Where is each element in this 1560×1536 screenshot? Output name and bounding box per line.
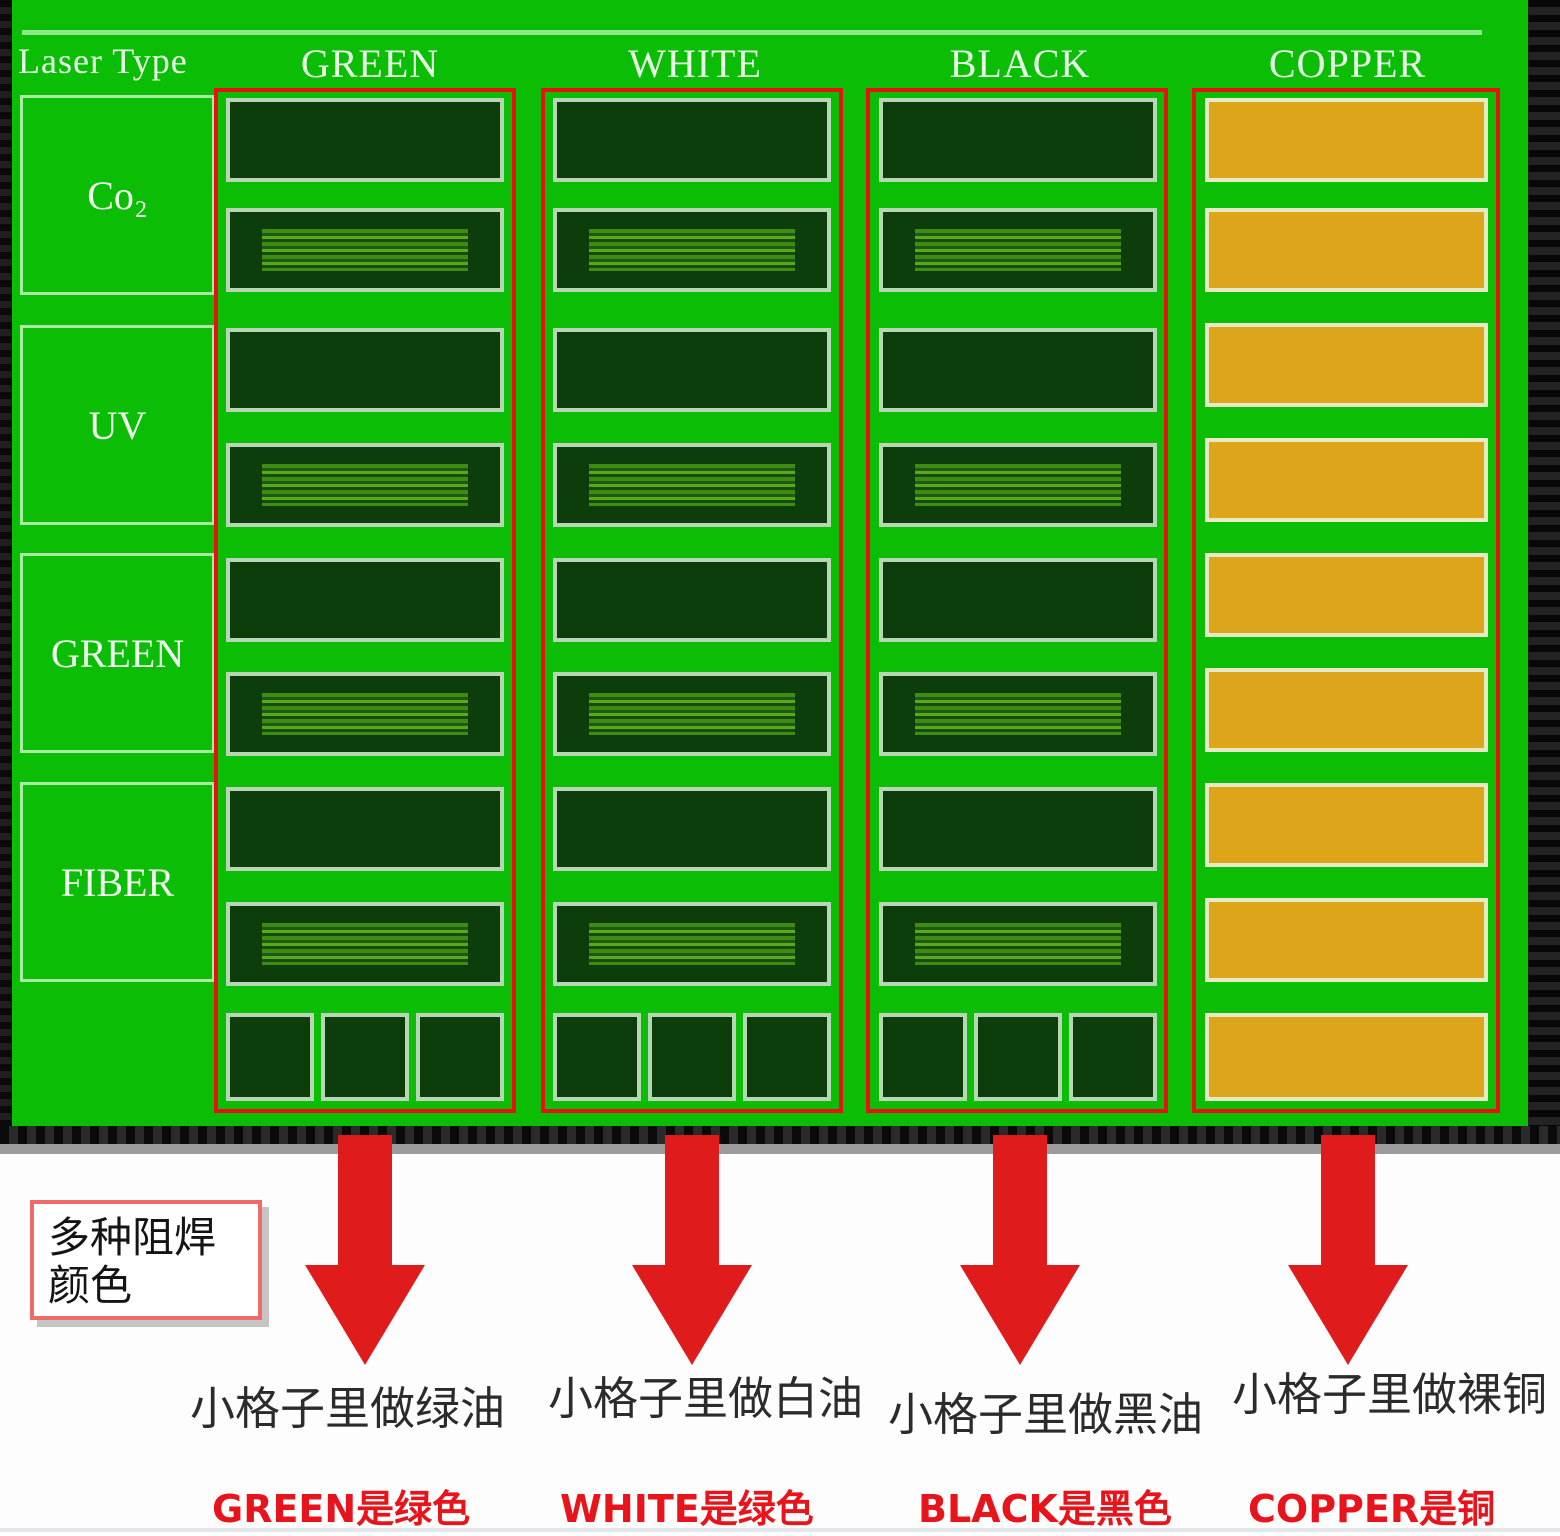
column-header-copper: COPPER: [1195, 40, 1500, 87]
pad-white-small-square-2[interactable]: [648, 1013, 736, 1101]
pad-white-fiber-striped[interactable]: [553, 902, 831, 986]
pad-black-green-solid[interactable]: [879, 558, 1157, 642]
stripe-pattern: [589, 693, 794, 736]
down-arrow-white: [632, 1135, 752, 1365]
arrow-head: [632, 1265, 752, 1365]
stripe-pattern: [915, 464, 1120, 507]
pad-black-uv-solid[interactable]: [879, 328, 1157, 412]
pcb-solder-mask-color-chart: Laser Type GREEN WHITE BLACK COPPER Co₂ …: [0, 0, 1560, 1536]
column-header-black: BLACK: [870, 40, 1170, 87]
down-arrow-copper: [1288, 1135, 1408, 1365]
caption-red-green: GREEN是绿色: [212, 1478, 470, 1533]
down-arrow-black: [960, 1135, 1080, 1365]
stripe-pattern: [262, 464, 467, 507]
board-edge-left: [0, 0, 12, 1152]
stripe-pattern: [915, 229, 1120, 272]
pad-black-green-striped[interactable]: [879, 672, 1157, 756]
pad-copper-fiber-1[interactable]: [1205, 783, 1488, 867]
pad-black-small-square-3[interactable]: [1069, 1013, 1157, 1101]
row-label-green: GREEN: [20, 553, 215, 753]
pad-black-small-square-2[interactable]: [974, 1013, 1062, 1101]
arrow-shaft: [338, 1135, 392, 1275]
pad-white-co2-solid[interactable]: [553, 98, 831, 182]
pad-green-uv-solid[interactable]: [226, 328, 504, 412]
stripe-pattern: [915, 923, 1120, 966]
pad-green-small-square-1[interactable]: [226, 1013, 314, 1101]
pad-green-small-square-3[interactable]: [416, 1013, 504, 1101]
stripe-pattern: [262, 923, 467, 966]
stripe-pattern: [589, 464, 794, 507]
pad-white-fiber-solid[interactable]: [553, 787, 831, 871]
legend-line-2: 颜色: [48, 1262, 244, 1310]
board-edge-right: [1528, 0, 1560, 1152]
arrow-shaft: [993, 1135, 1047, 1275]
pad-green-small-square-2[interactable]: [321, 1013, 409, 1101]
pad-white-uv-solid[interactable]: [553, 328, 831, 412]
header-divider-rule: [22, 30, 1482, 35]
pad-white-green-solid[interactable]: [553, 558, 831, 642]
column-header-green: GREEN: [220, 40, 520, 87]
pad-copper-uv-2[interactable]: [1205, 438, 1488, 522]
caption-cn-copper: 小格子里做裸铜: [1232, 1358, 1547, 1423]
pad-copper-green-2[interactable]: [1205, 668, 1488, 752]
pad-black-co2-solid[interactable]: [879, 98, 1157, 182]
pad-green-green-solid[interactable]: [226, 558, 504, 642]
caption-cn-green: 小格子里做绿油: [190, 1372, 505, 1437]
footer-divider: [0, 1528, 1560, 1532]
caption-cn-black: 小格子里做黑油: [888, 1378, 1203, 1443]
arrow-head: [305, 1265, 425, 1365]
legend-line-1: 多种阻焊: [48, 1214, 244, 1262]
row-label-fiber: FIBER: [20, 782, 215, 982]
pad-copper-green-1[interactable]: [1205, 553, 1488, 637]
column-header-white: WHITE: [545, 40, 845, 87]
pad-black-uv-striped[interactable]: [879, 443, 1157, 527]
pad-white-small-square-1[interactable]: [553, 1013, 641, 1101]
stripe-pattern: [915, 693, 1120, 736]
pad-green-uv-striped[interactable]: [226, 443, 504, 527]
stripe-pattern: [589, 923, 794, 966]
pcb-board: Laser Type GREEN WHITE BLACK COPPER Co₂ …: [0, 0, 1560, 1152]
caption-red-white: WHITE是绿色: [560, 1478, 814, 1533]
pad-copper-co2-1[interactable]: [1205, 98, 1488, 182]
down-arrow-green: [305, 1135, 425, 1365]
row-label-co2: Co₂: [20, 95, 215, 295]
pad-green-co2-striped[interactable]: [226, 208, 504, 292]
pad-white-co2-striped[interactable]: [553, 208, 831, 292]
stripe-pattern: [262, 229, 467, 272]
corner-label-laser-type: Laser Type: [18, 40, 228, 82]
pad-copper-uv-1[interactable]: [1205, 323, 1488, 407]
pad-black-small-square-1[interactable]: [879, 1013, 967, 1101]
stripe-pattern: [262, 693, 467, 736]
row-label-uv: UV: [20, 325, 215, 525]
stripe-pattern: [589, 229, 794, 272]
pad-white-uv-striped[interactable]: [553, 443, 831, 527]
pad-black-fiber-striped[interactable]: [879, 902, 1157, 986]
pad-white-green-striped[interactable]: [553, 672, 831, 756]
pad-green-fiber-solid[interactable]: [226, 787, 504, 871]
caption-red-black: BLACK是黑色: [918, 1478, 1172, 1533]
pad-copper-co2-2[interactable]: [1205, 208, 1488, 292]
arrow-head: [1288, 1265, 1408, 1365]
pad-black-co2-striped[interactable]: [879, 208, 1157, 292]
caption-cn-white: 小格子里做白油: [548, 1362, 863, 1427]
pad-copper-bottom[interactable]: [1205, 1013, 1488, 1101]
caption-red-copper: COPPER是铜: [1248, 1478, 1495, 1533]
pad-white-small-square-3[interactable]: [743, 1013, 831, 1101]
pad-black-fiber-solid[interactable]: [879, 787, 1157, 871]
pad-green-co2-solid[interactable]: [226, 98, 504, 182]
pad-copper-fiber-2[interactable]: [1205, 898, 1488, 982]
pad-green-green-striped[interactable]: [226, 672, 504, 756]
legend-box-solder-mask-colors: 多种阻焊 颜色: [30, 1200, 262, 1320]
arrow-shaft: [665, 1135, 719, 1275]
pad-green-fiber-striped[interactable]: [226, 902, 504, 986]
arrow-head: [960, 1265, 1080, 1365]
arrow-shaft: [1321, 1135, 1375, 1275]
